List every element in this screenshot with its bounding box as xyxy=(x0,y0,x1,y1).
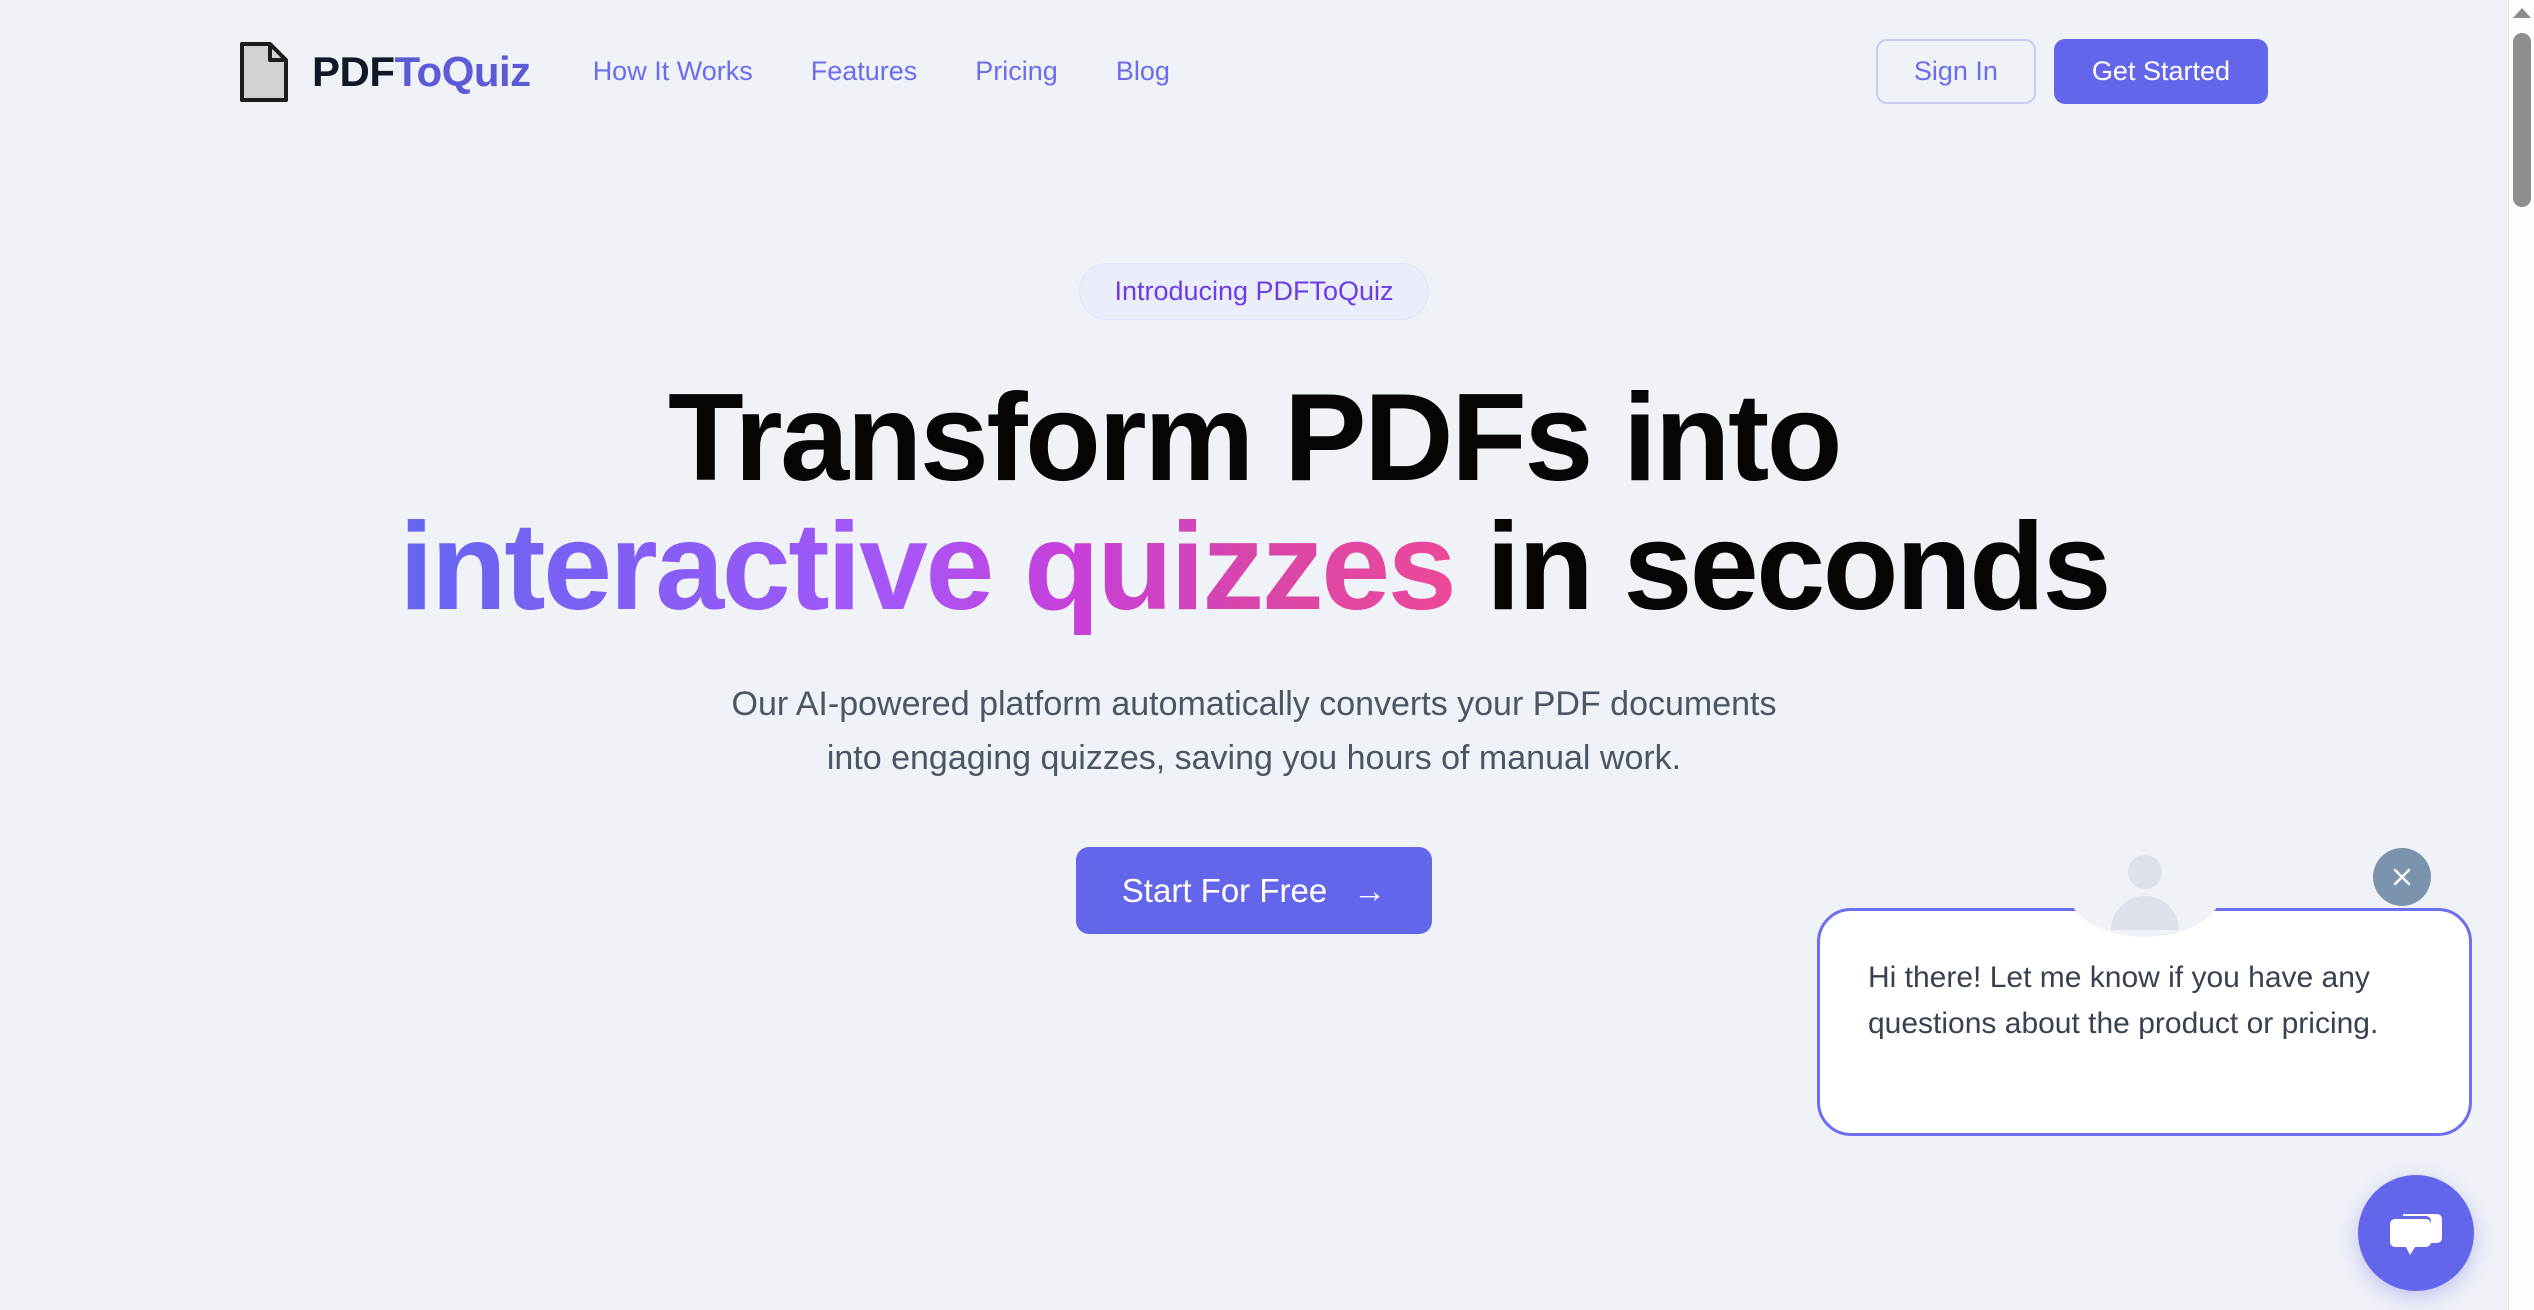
brand-name-accent: ToQuiz xyxy=(395,48,531,95)
hero-title-tail: in seconds xyxy=(1454,498,2109,636)
hero-title-line2: interactive quizzes in seconds xyxy=(0,503,2508,632)
scroll-up-arrow-icon[interactable] xyxy=(2513,8,2531,18)
page-title: Transform PDFs into interactive quizzes … xyxy=(0,374,2508,632)
chat-message-text: Hi there! Let me know if you have any qu… xyxy=(1868,955,2421,1047)
close-icon xyxy=(2389,864,2415,890)
scrollbar-thumb[interactable] xyxy=(2513,33,2531,207)
nav-item-blog[interactable]: Blog xyxy=(1116,58,1170,85)
header-actions: Sign In Get Started xyxy=(1876,39,2268,104)
page-viewport: PDFToQuiz How It Works Features Pricing … xyxy=(0,0,2508,1310)
chat-close-button[interactable] xyxy=(2373,848,2431,906)
chat-launcher-button[interactable] xyxy=(2358,1175,2474,1291)
vertical-scrollbar[interactable] xyxy=(2508,0,2534,1310)
chat-bubbles-icon xyxy=(2387,1204,2445,1262)
brand-name-primary: PDF xyxy=(312,48,395,95)
user-avatar-icon xyxy=(2105,850,2185,930)
brand-logo[interactable]: PDFToQuiz xyxy=(238,41,531,103)
hero-section: Introducing PDFToQuiz Transform PDFs int… xyxy=(0,143,2508,934)
nav-item-features[interactable]: Features xyxy=(811,58,918,85)
site-header: PDFToQuiz How It Works Features Pricing … xyxy=(0,0,2508,143)
get-started-button[interactable]: Get Started xyxy=(2054,39,2268,104)
chat-message-bubble: Hi there! Let me know if you have any qu… xyxy=(1817,908,2472,1136)
nav-item-how-it-works[interactable]: How It Works xyxy=(593,58,753,85)
nav-item-pricing[interactable]: Pricing xyxy=(975,58,1058,85)
main-nav: How It Works Features Pricing Blog xyxy=(593,58,1170,85)
hero-badge[interactable]: Introducing PDFToQuiz xyxy=(1079,263,1428,320)
start-for-free-label: Start For Free xyxy=(1122,874,1327,907)
hero-subtitle-line2: into engaging quizzes, saving you hours … xyxy=(827,739,1681,777)
sign-in-button[interactable]: Sign In xyxy=(1876,39,2036,104)
hero-title-line1: Transform PDFs into xyxy=(668,369,1840,507)
start-for-free-button[interactable]: Start For Free → xyxy=(1076,847,1432,934)
hero-subtitle: Our AI-powered platform automatically co… xyxy=(0,678,2508,785)
hero-title-gradient: interactive quizzes xyxy=(399,498,1454,636)
hero-subtitle-line1: Our AI-powered platform automatically co… xyxy=(732,685,1777,723)
brand-name: PDFToQuiz xyxy=(312,51,531,93)
document-icon xyxy=(238,41,290,103)
arrow-right-icon: → xyxy=(1353,874,1386,907)
